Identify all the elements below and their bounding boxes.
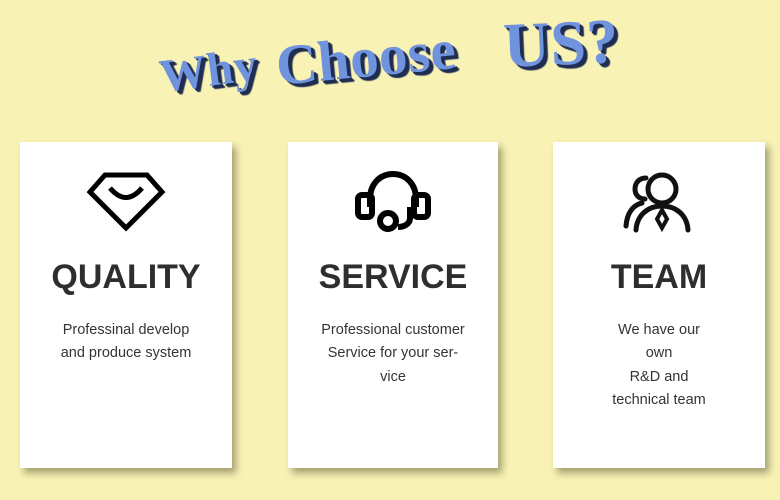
feature-card-quality: QUALITY Professinal develop and produce … <box>20 142 232 468</box>
feature-card-team: TEAM We have our own R&D and technical t… <box>553 142 765 468</box>
card-body-text: Professional customer Service for your s… <box>311 319 474 389</box>
card-body-text: Professinal develop and produce system <box>51 319 202 366</box>
card-title: SERVICE <box>319 260 468 294</box>
heading-word-us: US? <box>502 9 620 78</box>
people-group-icon <box>620 166 698 238</box>
card-title: QUALITY <box>51 260 200 294</box>
card-title: TEAM <box>611 260 707 294</box>
page-title: Why Choose US? <box>0 0 780 130</box>
feature-card-service: SERVICE Professional customer Service fo… <box>288 142 498 468</box>
diamond-gem-icon <box>86 166 166 238</box>
heading-word-why: Why <box>157 42 260 101</box>
card-body-text: We have our own R&D and technical team <box>602 319 716 413</box>
heading-word-choose: Choose <box>274 21 459 95</box>
headset-icon <box>354 166 432 238</box>
poster-canvas: Why Choose US? QUALITY Professinal devel… <box>0 0 780 500</box>
